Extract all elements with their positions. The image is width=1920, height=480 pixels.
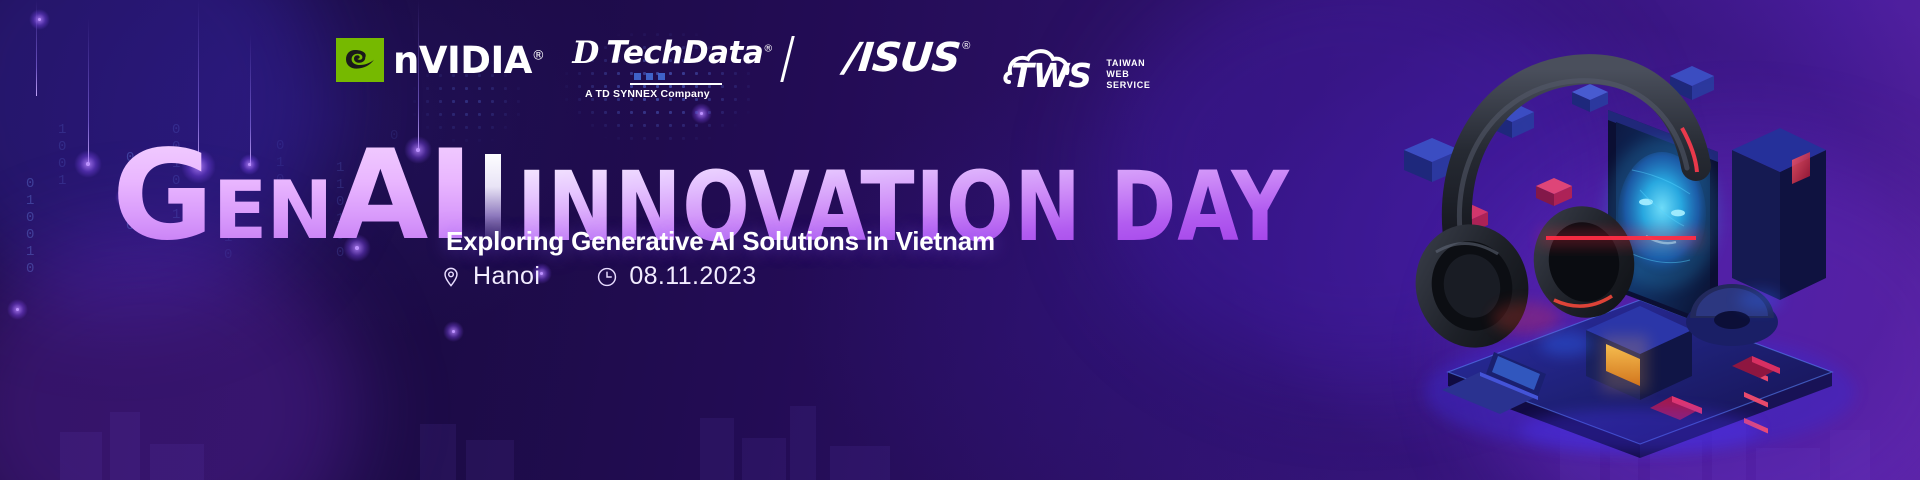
asus-registered: ® (962, 40, 970, 52)
page-subtitle: Exploring Generative AI Solutions in Vie… (446, 226, 995, 257)
nvidia-eye-icon (336, 38, 384, 82)
laptop (1442, 352, 1546, 414)
tws-wordmark: TWS (1011, 59, 1091, 92)
nvidia-trademark: ® (532, 48, 545, 63)
event-location-label: Hanoi (473, 262, 540, 291)
event-meta-row: Hanoi 08.11.2023 (440, 262, 757, 291)
event-date: 08.11.2023 (596, 262, 756, 291)
tws-tagline-line-3: SERVICE (1106, 80, 1150, 91)
tws-tagline-line-2: WEB (1106, 69, 1150, 80)
logo-techdata[interactable]: D TechData® A TD SYNNEX Company (572, 38, 790, 100)
binary-digits-column: 0 1 0 0 1 0 (26, 176, 35, 278)
light-trail (88, 18, 89, 166)
logo-tws[interactable]: TWS TAIWAN WEB SERVICE (1003, 38, 1150, 94)
glow-particle (700, 112, 703, 115)
techdata-main: D TechData® (572, 38, 772, 69)
logo-asus[interactable]: /ISUS ® (845, 38, 960, 78)
tablet-with-ai-face (1604, 110, 1720, 330)
binary-digits-column: 1 0 0 1 (58, 122, 67, 190)
techdata-monogram: D (572, 38, 599, 69)
logo-nvidia[interactable]: nVIDIA® (336, 38, 544, 82)
over-ear-headphones (1403, 69, 1697, 360)
techdata-wordmark-text: TechData (606, 35, 763, 71)
nvidia-wordmark-text: nVIDIA (393, 39, 532, 82)
event-date-label: 08.11.2023 (629, 262, 756, 291)
isometric-base-plate (1448, 300, 1832, 458)
techdata-registered: ® (763, 44, 773, 55)
floating-city-blocks (1404, 66, 1714, 234)
techdata-slash-accent (780, 36, 794, 82)
tws-tagline: TAIWAN WEB SERVICE (1106, 58, 1150, 94)
laser-beam (1540, 230, 1702, 246)
glow-accents (1520, 290, 1782, 452)
nvidia-wordmark: nVIDIA® (393, 42, 544, 79)
techdata-wordmark: TechData® (606, 38, 773, 69)
headline-genai: G EN AI (112, 146, 473, 248)
genai-innovation-day-banner: 0 1 0 0 1 0 1 0 0 1 0 1 1 0 0 0 0 1 0 1 … (0, 0, 1920, 480)
ai-devices-isometric-illustration (1340, 0, 1920, 480)
glow-particle (16, 308, 19, 311)
glow-particle (86, 162, 90, 166)
tws-tagline-line-1: TAIWAN (1106, 58, 1150, 69)
robotic-arm-module (1586, 306, 1692, 400)
asus-wordmark: /ISUS (843, 38, 962, 78)
techdata-tagline: A TD SYNNEX Company (572, 88, 722, 100)
speaker-sphere (1686, 284, 1778, 346)
server-rack (1732, 128, 1826, 434)
city-skyline-silhouette (0, 360, 1920, 480)
glow-particle (452, 330, 455, 333)
event-location: Hanoi (440, 262, 540, 291)
map-pin-icon (440, 266, 462, 288)
techdata-square-accents (634, 73, 665, 80)
clock-icon (596, 266, 618, 288)
headline-genai-g: G (112, 146, 213, 248)
techdata-underline (630, 83, 722, 85)
front-accent-blocks (1650, 356, 1780, 420)
nvidia-eye-glyph (342, 44, 378, 76)
headline-genai-en: EN (213, 178, 333, 244)
light-trail (36, 0, 37, 96)
background-glow-right-bottom (1480, 150, 1920, 480)
glow-particle (38, 18, 41, 21)
tws-cloud-icon: TWS (1003, 38, 1099, 94)
partner-logo-row: nVIDIA® D TechData® A TD SYNNEX Company … (336, 38, 1151, 96)
